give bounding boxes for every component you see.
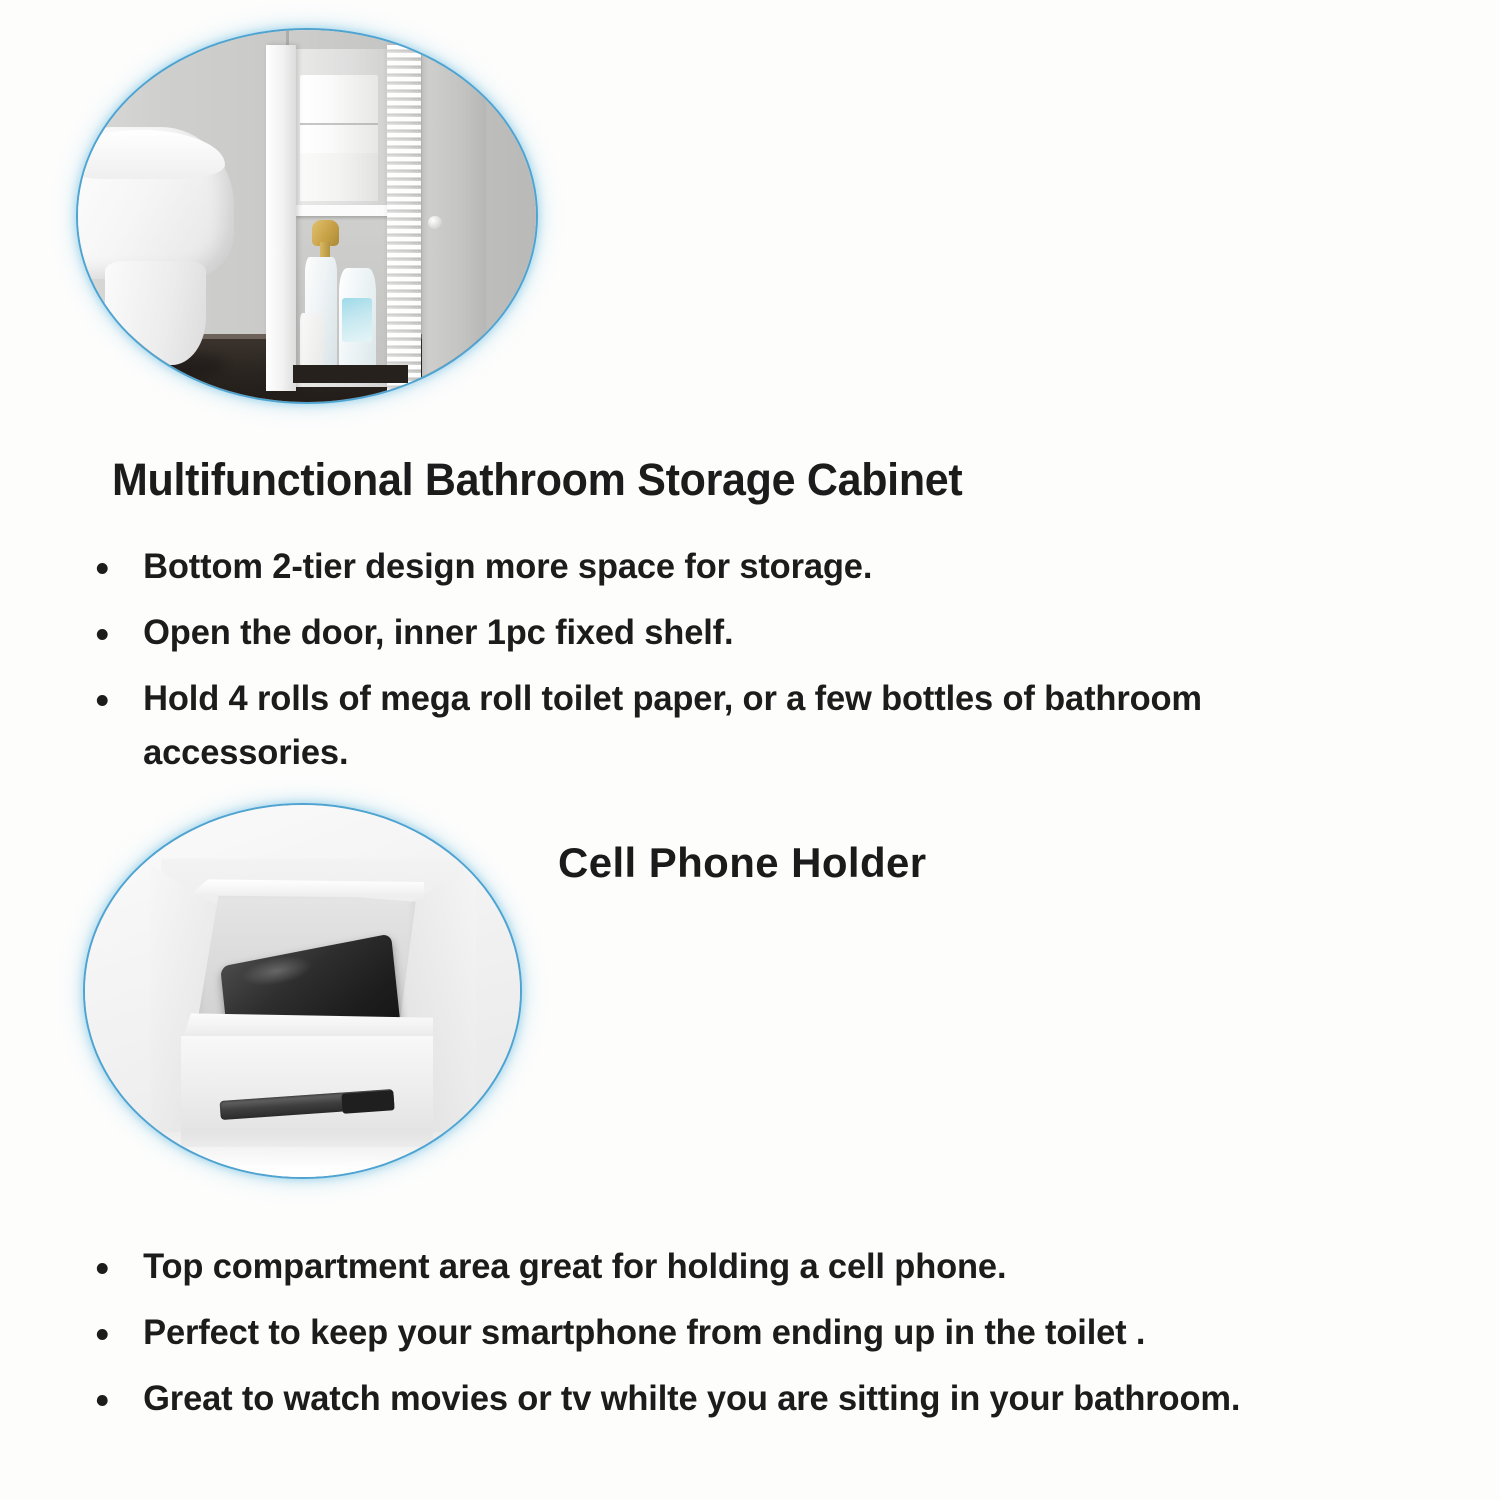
drawer-handle-shadow [341,1090,394,1114]
phone-photo-content [85,805,520,1177]
cell-phone-holder-photo [85,805,520,1177]
cabinet-beside-toilet-photo [78,30,536,402]
cabinet-fixed-shelf [296,205,392,216]
cabinet-open-door [266,45,296,391]
list-item: Perfect to keep your smartphone from end… [86,1306,1406,1359]
list-item: Hold 4 rolls of mega roll toilet paper, … [86,672,1396,778]
cabinet-louvered-panel [387,45,421,391]
section-title-cell-phone-holder: Cell Phone Holder [558,839,927,887]
list-item: Top compartment area great for holding a… [86,1240,1406,1293]
cabinet-feature-list: Bottom 2-tier design more space for stor… [86,540,1416,792]
cabinet-toe-kick-shadow [293,365,408,384]
compartment-top-rim [189,879,424,898]
toilet-base [105,261,206,365]
phone-holder-feature-list: Top compartment area great for holding a… [86,1240,1426,1439]
cabinet-front-face [181,1036,433,1148]
bathroom-bottle-b-label [342,298,372,343]
list-item: Bottom 2-tier design more space for stor… [86,540,1396,593]
toilet-paper-roll-seam [300,123,378,125]
list-item: Great to watch movies or tv whilte you a… [86,1372,1406,1425]
list-item: Open the door, inner 1pc fixed shelf. [86,606,1396,659]
photo-bottom-fade [85,1132,520,1177]
product-infographic-page: Multifunctional Bathroom Storage Cabinet… [0,0,1500,1500]
cabinet-photo-content [78,30,536,402]
toilet-paper-rolls-lower [300,153,378,201]
page-title: Multifunctional Bathroom Storage Cabinet [112,454,962,506]
